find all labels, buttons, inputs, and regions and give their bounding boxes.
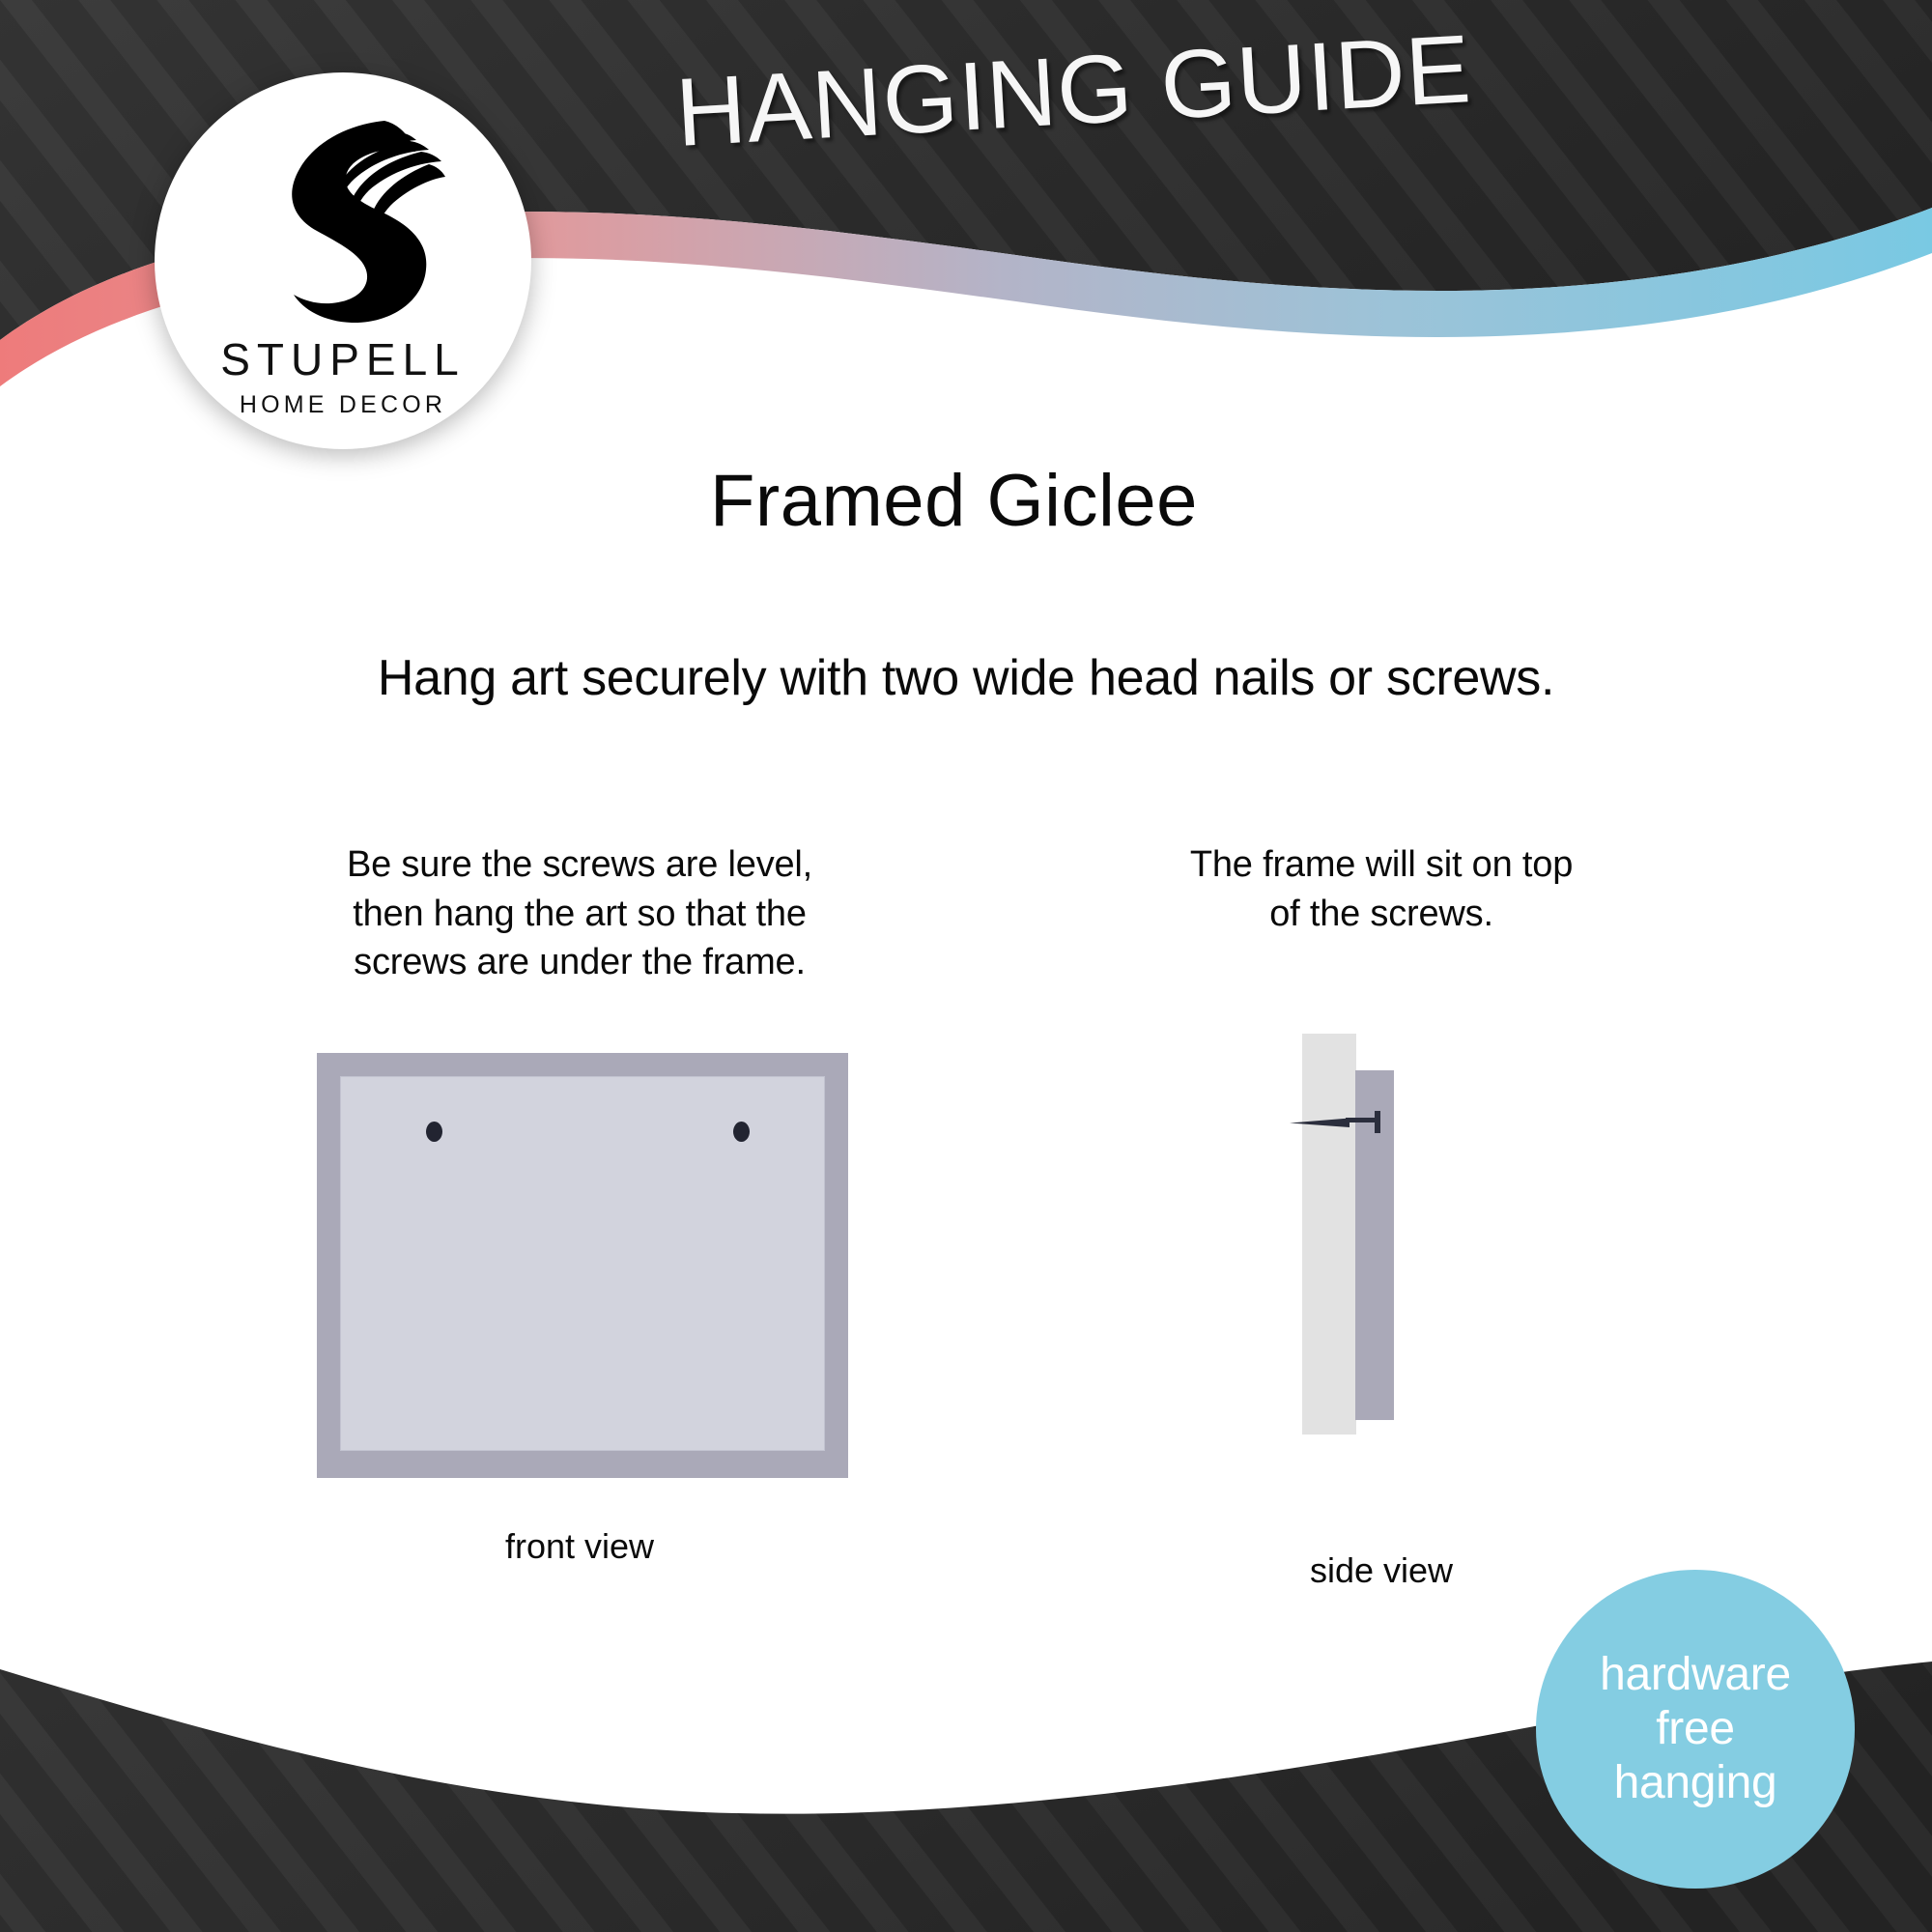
front-caption-line-3: screws are under the frame. — [241, 938, 918, 987]
product-type-label: Framed Giclee — [710, 459, 1198, 543]
badge-line-3: hanging — [1614, 1756, 1777, 1810]
nail-icon — [1290, 1110, 1391, 1135]
page-title: HANGING GUIDE — [673, 10, 1548, 169]
front-caption-line-2: then hang the art so that the — [241, 890, 918, 939]
front-caption-line-1: Be sure the screws are level, — [241, 840, 918, 890]
page-title-wrap: HANGING GUIDE — [676, 58, 1546, 222]
logo-subwordmark: HOME DECOR — [240, 393, 446, 417]
hardware-free-hanging-badge: hardware free hanging — [1536, 1570, 1855, 1889]
front-view-mat — [340, 1076, 825, 1451]
side-view-diagram — [1043, 1034, 1719, 1536]
side-caption-line-1: The frame will sit on top — [1043, 840, 1719, 890]
side-view-label: side view — [1043, 1550, 1719, 1591]
badge-line-1: hardware — [1600, 1648, 1791, 1702]
logo-wordmark: STUPELL — [220, 337, 466, 382]
front-view-label: front view — [241, 1526, 918, 1567]
main-instruction: Hang art securely with two wide head nai… — [0, 649, 1932, 707]
side-caption-line-2: of the screws. — [1043, 890, 1719, 939]
stupell-swan-logo-icon — [240, 109, 447, 331]
front-view-caption: Be sure the screws are level, then hang … — [241, 840, 918, 987]
badge-line-2: free — [1656, 1702, 1735, 1756]
side-view-caption: The frame will sit on top of the screws. — [1043, 840, 1719, 938]
front-view-frame — [317, 1053, 848, 1478]
brand-logo-badge: STUPELL HOME DECOR — [155, 72, 531, 449]
side-view-wall — [1302, 1034, 1356, 1435]
screw-dot-right-icon — [733, 1122, 750, 1142]
screw-dot-left-icon — [426, 1122, 442, 1142]
